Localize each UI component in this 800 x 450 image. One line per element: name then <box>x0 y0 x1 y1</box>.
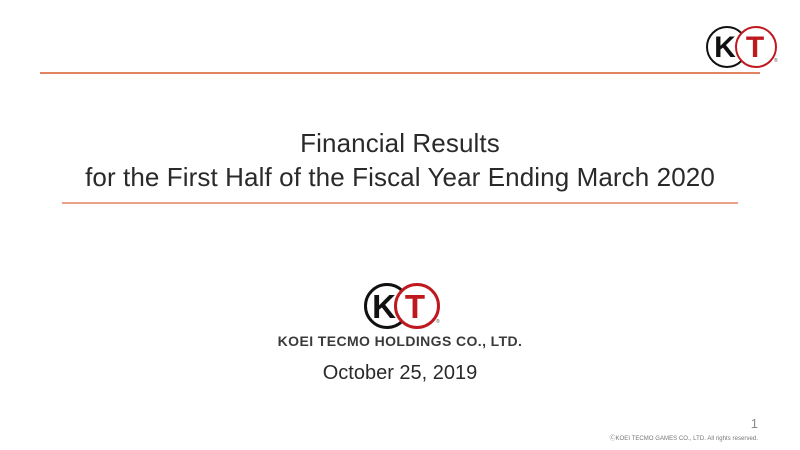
page-title: Financial Results for the First Half of … <box>0 126 800 194</box>
brand-kt-logo-icon: K T ® <box>364 283 440 329</box>
logo-letter-t: T <box>401 290 429 323</box>
logo-registered-mark: ® <box>436 320 440 325</box>
company-name: KOEI TECMO HOLDINGS CO., LTD. <box>0 333 800 349</box>
page-title-line-2: for the First Half of the Fiscal Year En… <box>0 160 800 194</box>
page-title-line-1: Financial Results <box>0 126 800 160</box>
header-divider <box>40 72 760 74</box>
presentation-date: October 25, 2019 <box>0 362 800 385</box>
header-kt-logo-icon: K T ® <box>706 26 778 68</box>
logo-letter-k: K <box>712 33 738 63</box>
title-divider <box>62 202 738 204</box>
page-number: 1 <box>751 416 758 431</box>
logo-registered-mark: ® <box>774 59 778 64</box>
copyright-notice: ⒸKOEI TECMO GAMES CO., LTD. All rights r… <box>609 433 758 442</box>
logo-letter-k: K <box>370 290 398 323</box>
logo-letter-t: T <box>742 33 768 63</box>
title-slide: K T ® Financial Results for the First Ha… <box>0 0 800 450</box>
